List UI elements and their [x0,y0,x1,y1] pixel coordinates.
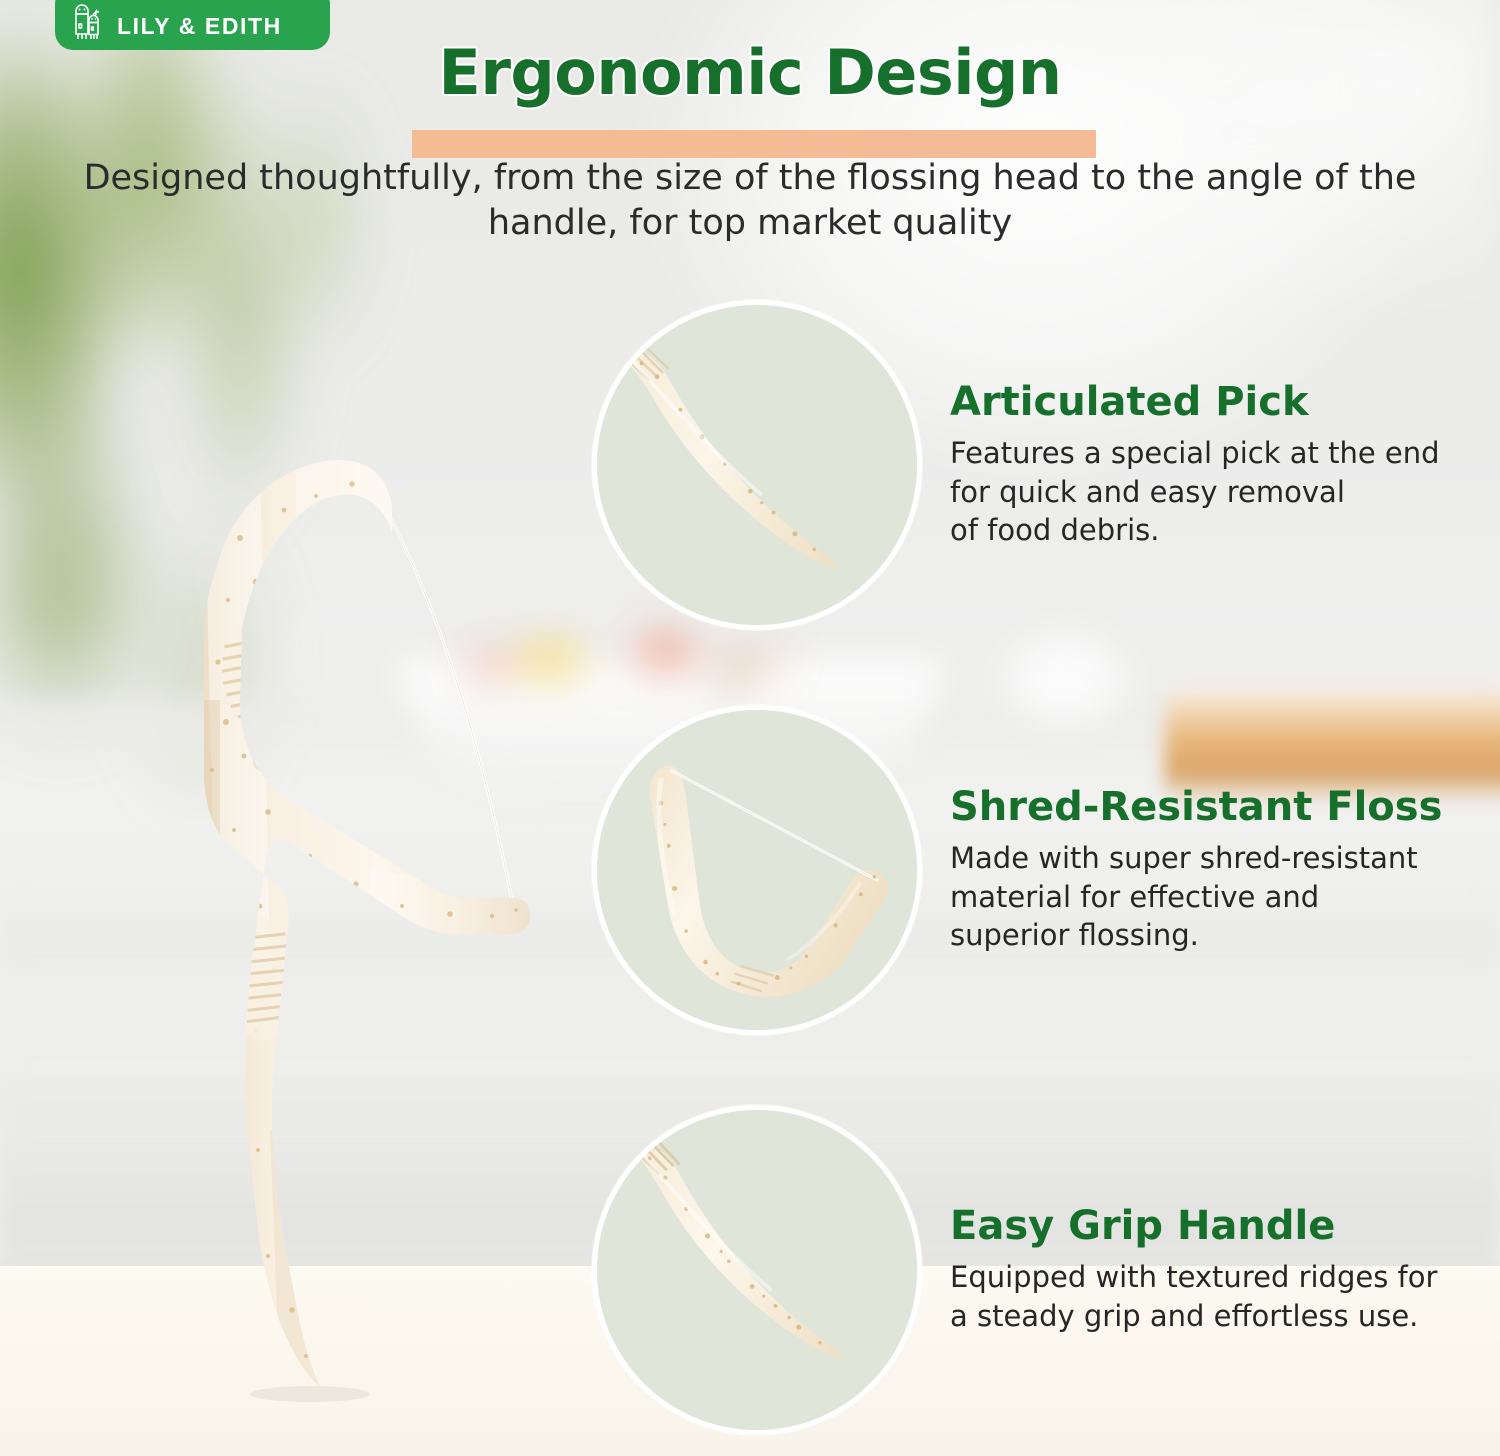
page-title: Ergonomic Design [438,36,1061,109]
page-subtitle: Designed thoughtfully, from the size of … [50,156,1450,246]
title-highlight-bar [412,130,1096,158]
feature-body: Features a special pick at the end for q… [950,434,1450,551]
feature-body-line-1: Features a special pick at the end [950,434,1450,473]
feature-shred-resistant-floss: Shred-Resistant Floss Made with super sh… [592,705,1450,1035]
feature-text-easy-grip-handle: Easy Grip Handle Equipped with textured … [950,1204,1450,1336]
feature-body-line-3: superior flossing. [950,916,1450,955]
subtitle-line-1: Designed thoughtfully, from the size of … [50,156,1450,201]
brand-name: LILY & EDITH [117,15,282,42]
feature-articulated-pick: Articulated Pick Features a special pick… [592,300,1450,630]
feature-heading: Shred-Resistant Floss [950,785,1450,829]
feature-easy-grip-handle: Easy Grip Handle Equipped with textured … [592,1105,1450,1435]
feature-body-line-2: a steady grip and effortless use. [950,1297,1450,1336]
subtitle-line-2: handle, for top market quality [50,201,1450,246]
brand-logo-badge: LILY & EDITH [55,0,330,50]
feature-body-line-3: of food debris. [950,511,1450,550]
feature-text-shred-resistant-floss: Shred-Resistant Floss Made with super sh… [950,785,1450,956]
feature-body-line-1: Made with super shred-resistant [950,839,1450,878]
feature-text-articulated-pick: Articulated Pick Features a special pick… [950,380,1450,551]
feature-image-shred-resistant-floss [592,705,922,1035]
feature-image-easy-grip-handle [592,1105,922,1435]
feature-body-line-2: material for effective and [950,878,1450,917]
feature-heading: Articulated Pick [950,380,1450,424]
two-figures-icon [71,2,107,42]
feature-body-line-1: Equipped with textured ridges for [950,1258,1450,1297]
feature-body-line-2: for quick and easy removal [950,473,1450,512]
feature-body: Equipped with textured ridges for a stea… [950,1258,1450,1336]
feature-body: Made with super shred-resistant material… [950,839,1450,956]
feature-image-articulated-pick [592,300,922,630]
feature-heading: Easy Grip Handle [950,1204,1450,1248]
